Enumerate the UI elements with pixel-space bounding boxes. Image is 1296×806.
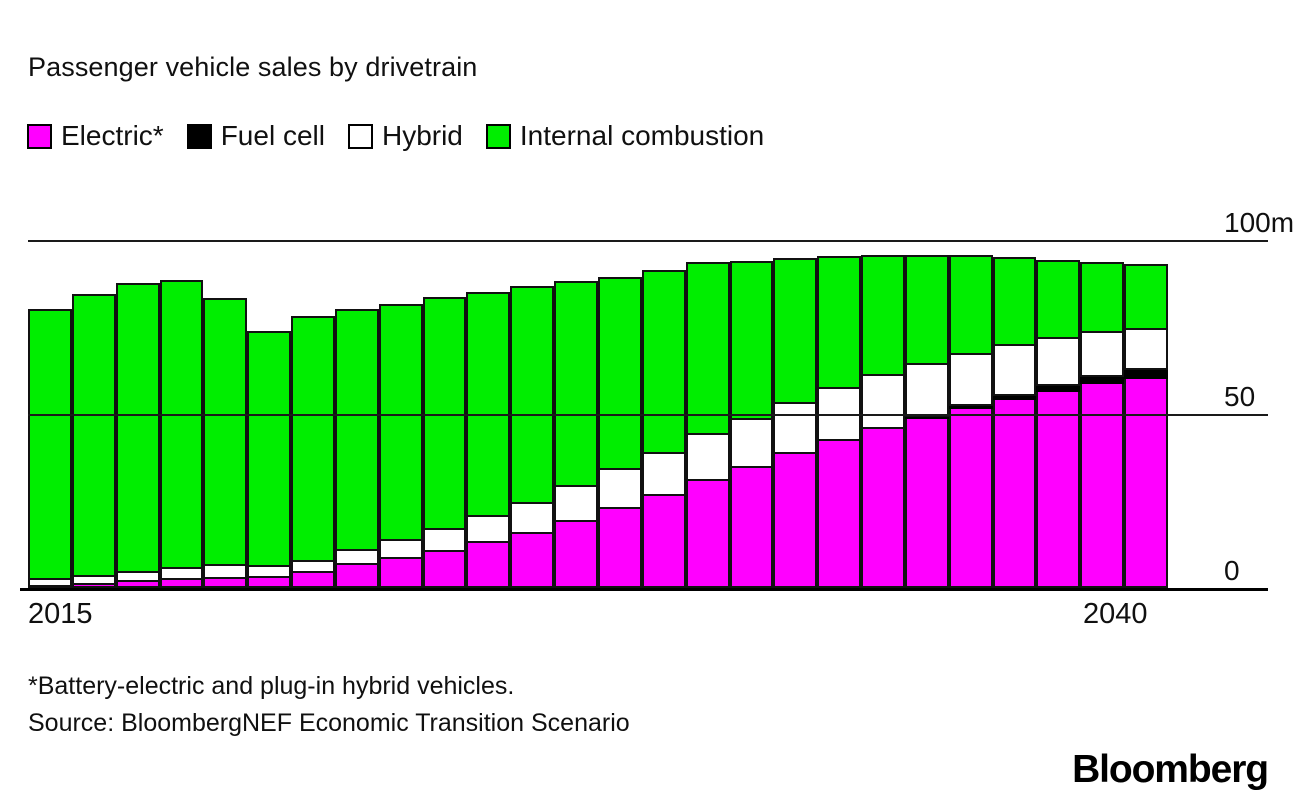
- bar-2025[interactable]: [466, 140, 510, 588]
- bar-segment-hybrid: [510, 502, 554, 535]
- bar-2015[interactable]: [28, 140, 72, 588]
- y-axis-tick-label: 100m: [1224, 207, 1294, 239]
- bar-2018[interactable]: [160, 140, 204, 588]
- y-axis-tick-label: 50: [1224, 381, 1255, 413]
- bar-segment-hybrid: [466, 515, 510, 543]
- bar-segment-internal_combustion: [160, 280, 204, 569]
- bar-segment-electric: [861, 427, 905, 588]
- bar-segment-electric: [730, 466, 774, 588]
- bar-segment-hybrid: [642, 452, 686, 497]
- bar-segment-hybrid: [730, 418, 774, 468]
- bar-segment-internal_combustion: [993, 257, 1037, 346]
- bar-segment-internal_combustion: [466, 292, 510, 517]
- bar-2026[interactable]: [510, 140, 554, 588]
- y-axis-tick-label: 0: [1224, 555, 1240, 587]
- bar-segment-hybrid: [598, 468, 642, 509]
- bar-segment-internal_combustion: [28, 309, 72, 579]
- bar-segment-electric: [335, 563, 379, 588]
- bar-2020[interactable]: [247, 140, 291, 588]
- bar-2034[interactable]: [861, 140, 905, 588]
- chart-root: Passenger vehicle sales by drivetrain El…: [0, 0, 1296, 806]
- bar-2032[interactable]: [773, 140, 817, 588]
- bar-segment-electric: [686, 479, 730, 588]
- bar-segment-hybrid: [1124, 328, 1168, 370]
- bar-segment-hybrid: [379, 539, 423, 559]
- page-title: Passenger vehicle sales by drivetrain: [28, 52, 477, 83]
- bar-2029[interactable]: [642, 140, 686, 588]
- x-axis-baseline: [20, 588, 1268, 591]
- bar-segment-hybrid: [554, 485, 598, 522]
- gridline-50: [28, 414, 1268, 416]
- bar-segment-internal_combustion: [861, 255, 905, 376]
- bar-segment-electric: [510, 532, 554, 588]
- bar-2039[interactable]: [1080, 140, 1124, 588]
- bar-2040[interactable]: [1124, 140, 1168, 588]
- bar-2021[interactable]: [291, 140, 335, 588]
- x-axis-label-last: 2040: [1083, 598, 1148, 631]
- footnote-line-2: Source: BloombergNEF Economic Transition…: [28, 705, 630, 742]
- bar-segment-electric: [817, 439, 861, 588]
- bar-segment-hybrid: [1036, 337, 1080, 386]
- bar-segment-internal_combustion: [116, 283, 160, 572]
- bar-2017[interactable]: [116, 140, 160, 588]
- bar-2022[interactable]: [335, 140, 379, 588]
- bar-segment-electric: [993, 398, 1037, 588]
- bar-segment-internal_combustion: [773, 258, 817, 404]
- bar-2037[interactable]: [993, 140, 1037, 588]
- bloomberg-logo: Bloomberg: [1072, 748, 1268, 792]
- bar-segment-hybrid: [686, 433, 730, 481]
- footnote: *Battery-electric and plug-in hybrid veh…: [28, 668, 630, 742]
- bar-segment-internal_combustion: [554, 281, 598, 487]
- bar-segment-hybrid: [335, 549, 379, 565]
- bar-segment-electric: [291, 571, 335, 588]
- bar-segment-internal_combustion: [291, 316, 335, 561]
- bar-segment-internal_combustion: [730, 261, 774, 420]
- bar-segment-internal_combustion: [1124, 264, 1168, 330]
- bar-segment-hybrid: [949, 353, 993, 407]
- bar-2019[interactable]: [203, 140, 247, 588]
- bar-segment-internal_combustion: [1080, 262, 1124, 333]
- bar-2030[interactable]: [686, 140, 730, 588]
- bar-segment-internal_combustion: [335, 309, 379, 551]
- x-axis-label-first: 2015: [28, 598, 93, 631]
- bar-segment-internal_combustion: [379, 304, 423, 541]
- plot-area: 100m500: [28, 240, 1168, 588]
- bar-2024[interactable]: [423, 140, 467, 588]
- bar-segment-hybrid: [423, 528, 467, 552]
- bar-segment-electric: [1036, 390, 1080, 588]
- bar-segment-electric: [642, 494, 686, 588]
- bar-segment-internal_combustion: [817, 256, 861, 389]
- bar-segment-internal_combustion: [72, 294, 116, 577]
- bar-segment-electric: [1080, 382, 1124, 588]
- bar-segment-electric: [905, 417, 949, 588]
- bar-2038[interactable]: [1036, 140, 1080, 588]
- bar-segment-internal_combustion: [203, 298, 247, 567]
- bar-segment-internal_combustion: [949, 255, 993, 354]
- bar-segment-electric: [1124, 377, 1168, 588]
- bar-segment-internal_combustion: [642, 270, 686, 454]
- bar-segment-hybrid: [905, 363, 949, 418]
- bar-segment-electric: [949, 407, 993, 588]
- gridline-100: [28, 240, 1268, 242]
- bar-2016[interactable]: [72, 140, 116, 588]
- bar-segment-internal_combustion: [905, 255, 949, 365]
- bar-2036[interactable]: [949, 140, 993, 588]
- bar-segment-electric: [466, 541, 510, 588]
- bar-segment-hybrid: [1080, 331, 1124, 377]
- bar-segment-internal_combustion: [686, 262, 730, 435]
- bar-segment-internal_combustion: [247, 331, 291, 568]
- bar-segment-electric: [379, 557, 423, 588]
- bar-segment-hybrid: [861, 374, 905, 429]
- bar-segment-electric: [773, 452, 817, 588]
- bar-segment-internal_combustion: [598, 277, 642, 470]
- bar-2035[interactable]: [905, 140, 949, 588]
- bar-2023[interactable]: [379, 140, 423, 588]
- bar-segment-internal_combustion: [510, 286, 554, 504]
- bar-segment-electric: [554, 520, 598, 588]
- bar-group: [28, 140, 1168, 588]
- bar-segment-internal_combustion: [1036, 260, 1080, 339]
- bar-segment-hybrid: [993, 344, 1037, 396]
- bar-2028[interactable]: [598, 140, 642, 588]
- bar-2031[interactable]: [730, 140, 774, 588]
- bar-segment-electric: [423, 550, 467, 588]
- footnote-line-1: *Battery-electric and plug-in hybrid veh…: [28, 668, 630, 705]
- bar-segment-hybrid: [773, 402, 817, 455]
- bar-2027[interactable]: [554, 140, 598, 588]
- bar-segment-hybrid: [203, 564, 247, 579]
- bar-segment-electric: [598, 507, 642, 588]
- bar-2033[interactable]: [817, 140, 861, 588]
